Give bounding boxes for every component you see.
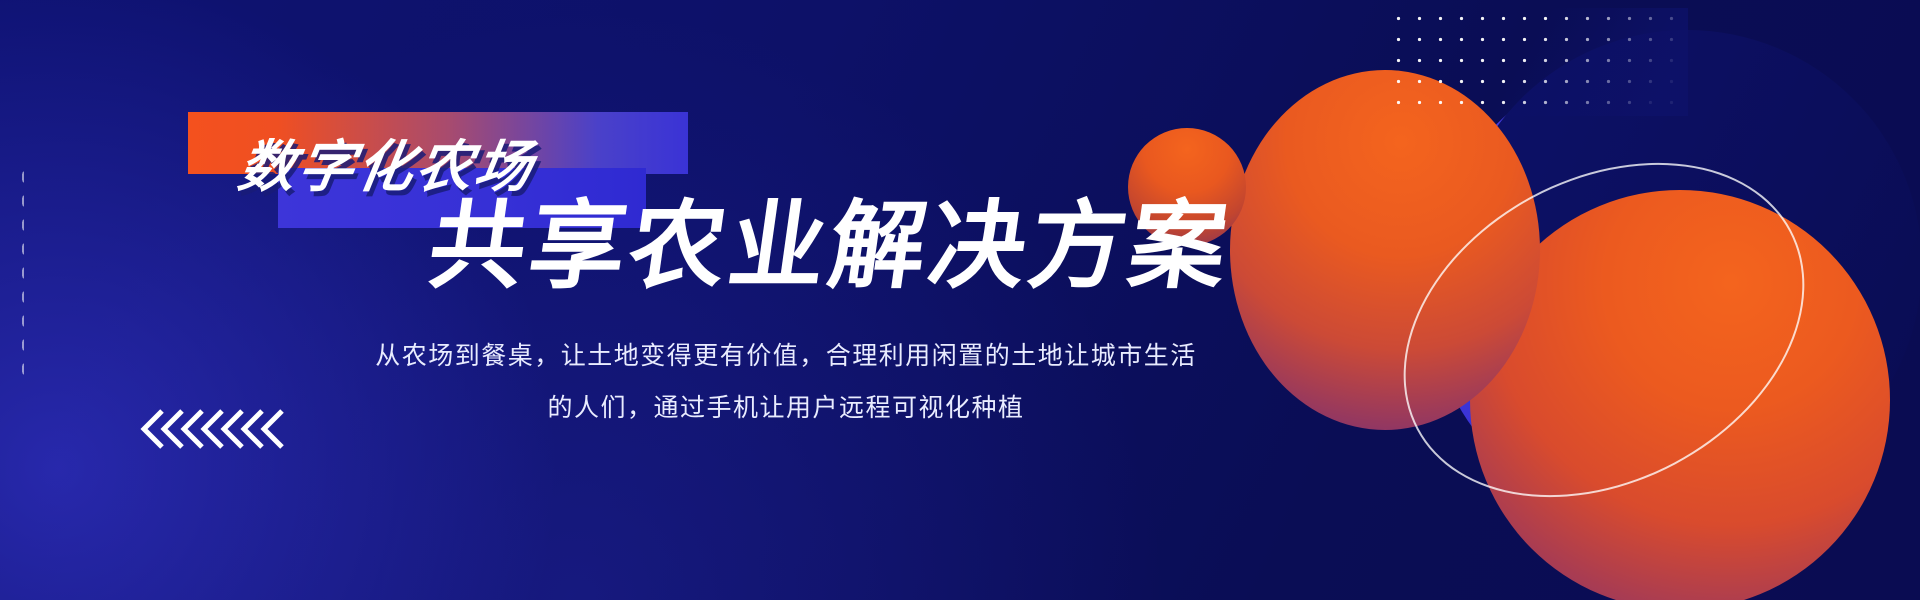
page-title: 共享农业解决方案 [423,198,1236,294]
subtitle-line-2: 的人们，通过手机让用户远程可视化种植 [356,382,1216,434]
subtitle-line-1: 从农场到餐桌，让土地变得更有价值，合理利用闲置的土地让城市生活 [356,330,1216,382]
banner-content: 数字化农场 共享农业解决方案 从农场到餐桌，让土地变得更有价值，合理利用闲置的土… [0,0,1920,600]
banner-subtitle: 从农场到餐桌，让土地变得更有价值，合理利用闲置的土地让城市生活 的人们，通过手机… [356,330,1216,434]
hero-banner: 数字化农场 共享农业解决方案 从农场到餐桌，让土地变得更有价值，合理利用闲置的土… [0,0,1920,600]
